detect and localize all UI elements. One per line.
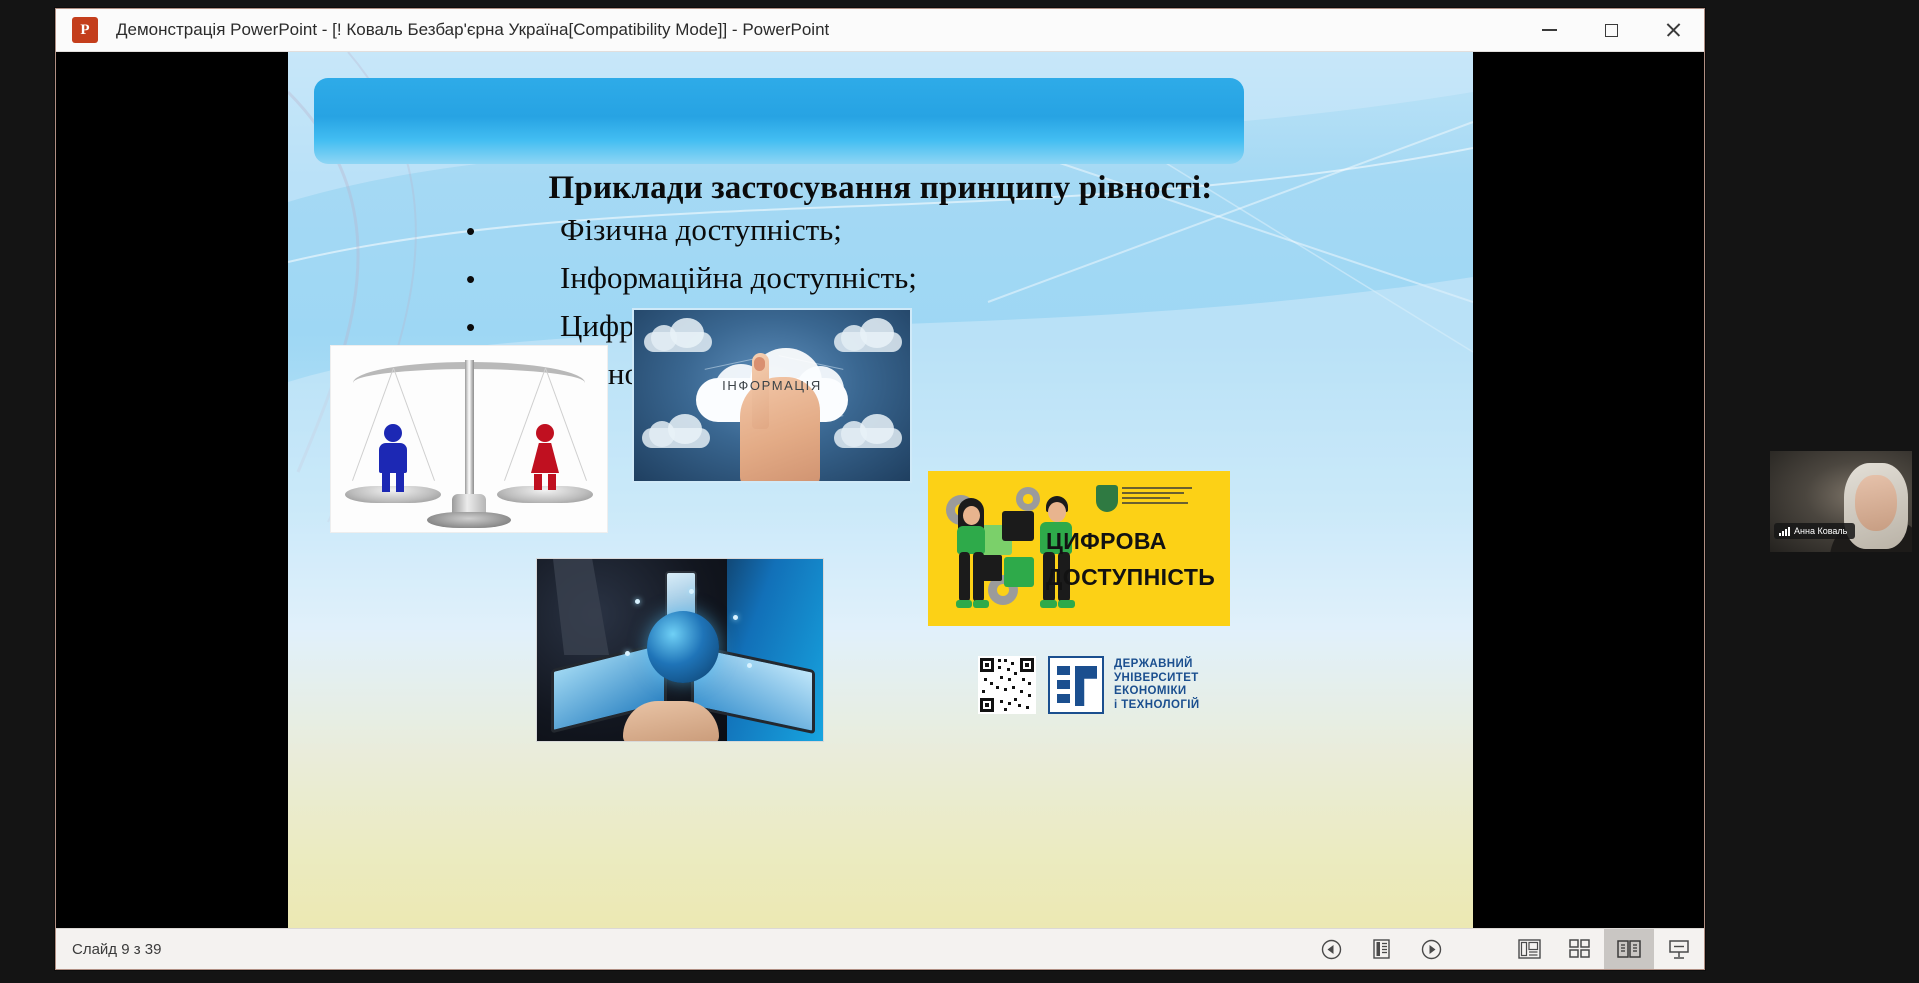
- bullet-marker-icon: •: [466, 218, 512, 244]
- university-emblem-icon: [1048, 656, 1104, 714]
- window-title: Демонстрація PowerPoint - [! Коваль Безб…: [116, 20, 829, 40]
- close-button[interactable]: [1642, 9, 1704, 51]
- maximize-icon: [1605, 24, 1618, 37]
- previous-circle-icon: [1321, 939, 1342, 960]
- participant-name-badge: Анна Коваль: [1774, 523, 1855, 539]
- bullet-marker-icon: •: [466, 314, 512, 340]
- slide-canvas[interactable]: Приклади застосування принципу рівності:…: [288, 52, 1473, 928]
- grid-view-icon: [1569, 939, 1590, 959]
- information-cloud-image: ІНФОРМАЦІЯ: [632, 308, 912, 483]
- scale-post: [465, 360, 474, 510]
- male-figure-icon: [376, 424, 410, 490]
- next-slide-button[interactable]: [1406, 929, 1456, 969]
- banner-line-2: ДОСТУПНІСТЬ: [1046, 559, 1222, 595]
- webcam-video[interactable]: Анна Коваль: [1770, 451, 1912, 552]
- reading-view-button[interactable]: [1604, 929, 1654, 969]
- small-cloud-icon: [644, 318, 712, 352]
- female-figure-icon: [528, 424, 562, 490]
- title-bar[interactable]: P Демонстрація PowerPoint - [! Коваль Бе…: [56, 9, 1704, 52]
- bullet-text: Інформаційна доступність;: [560, 260, 917, 296]
- powerpoint-window: P Демонстрація PowerPoint - [! Коваль Бе…: [55, 8, 1705, 970]
- list-item: • Фізична доступність;: [466, 212, 1316, 260]
- university-name-line: УНІВЕРСИТЕТ: [1114, 672, 1200, 686]
- slide-sorter-button[interactable]: [1554, 929, 1604, 969]
- screen: P Демонстрація PowerPoint - [! Коваль Бе…: [0, 0, 1919, 983]
- person-woman-illustration: [954, 498, 994, 616]
- list-item: • Інформаційна доступність;: [466, 260, 1316, 308]
- cloud-label: ІНФОРМАЦІЯ: [696, 378, 848, 393]
- palm-hand: [623, 701, 719, 742]
- next-circle-icon: [1421, 939, 1442, 960]
- previous-slide-button[interactable]: [1306, 929, 1356, 969]
- slideshow-stage[interactable]: Приклади застосування принципу рівності:…: [56, 52, 1704, 928]
- university-name-line: і ТЕХНОЛОГІЙ: [1114, 699, 1200, 713]
- slide-header-band: [314, 78, 1244, 164]
- reading-view-icon: [1617, 939, 1641, 959]
- slide-title: Приклади застосування принципу рівності:: [288, 170, 1473, 207]
- university-name-line: ЕКОНОМІКИ: [1114, 685, 1200, 699]
- digital-accessibility-banner: ЦИФРОВА ДОСТУПНІСТЬ: [928, 471, 1230, 626]
- small-cloud-icon: [834, 318, 902, 352]
- globe-icon: [647, 611, 719, 683]
- bullet-marker-icon: •: [466, 266, 512, 292]
- minimize-button[interactable]: [1518, 9, 1580, 51]
- signal-strength-icon: [1779, 527, 1790, 536]
- qr-code: [978, 656, 1036, 714]
- gear-icon: [1016, 487, 1040, 511]
- webcam-thumbnail[interactable]: Анна Коваль: [1753, 443, 1916, 558]
- minimize-icon: [1542, 29, 1557, 31]
- government-crest-icon: [1096, 485, 1118, 512]
- banner-line-1: ЦИФРОВА: [1046, 523, 1222, 559]
- status-bar: Слайд 9 з 39: [56, 928, 1704, 969]
- slide-counter: Слайд 9 з 39: [72, 941, 161, 958]
- banner-text: ЦИФРОВА ДОСТУПНІСТЬ: [1046, 523, 1222, 595]
- pen-tools-button[interactable]: [1356, 929, 1406, 969]
- university-name: ДЕРЖАВНИЙ УНІВЕРСИТЕТ ЕКОНОМІКИ і ТЕХНОЛ…: [1114, 658, 1200, 712]
- university-name-line: ДЕРЖАВНИЙ: [1114, 658, 1200, 672]
- normal-view-button[interactable]: [1504, 929, 1554, 969]
- scale-base: [427, 512, 511, 528]
- participant-face: [1855, 475, 1897, 531]
- puzzle-piece-icon: [1004, 557, 1034, 587]
- status-bar-controls: [1306, 929, 1704, 969]
- university-logo: ДЕРЖАВНИЙ УНІВЕРСИТЕТ ЕКОНОМІКИ і ТЕХНОЛ…: [978, 652, 1200, 718]
- normal-view-icon: [1518, 939, 1541, 959]
- agency-caption-lines: [1122, 487, 1196, 509]
- slideshow-button[interactable]: [1654, 929, 1704, 969]
- pen-menu-icon: [1372, 939, 1391, 959]
- balance-scales-equality-image: [330, 345, 608, 533]
- powerpoint-icon: P: [72, 17, 98, 43]
- digital-technology-image: [536, 558, 824, 742]
- participant-name: Анна Коваль: [1794, 526, 1847, 536]
- window-controls: [1518, 9, 1704, 51]
- close-icon: [1665, 22, 1681, 38]
- slideshow-icon: [1668, 939, 1690, 960]
- maximize-button[interactable]: [1580, 9, 1642, 51]
- bullet-text: Фізична доступність;: [560, 212, 842, 248]
- puzzle-piece-icon: [1002, 511, 1034, 541]
